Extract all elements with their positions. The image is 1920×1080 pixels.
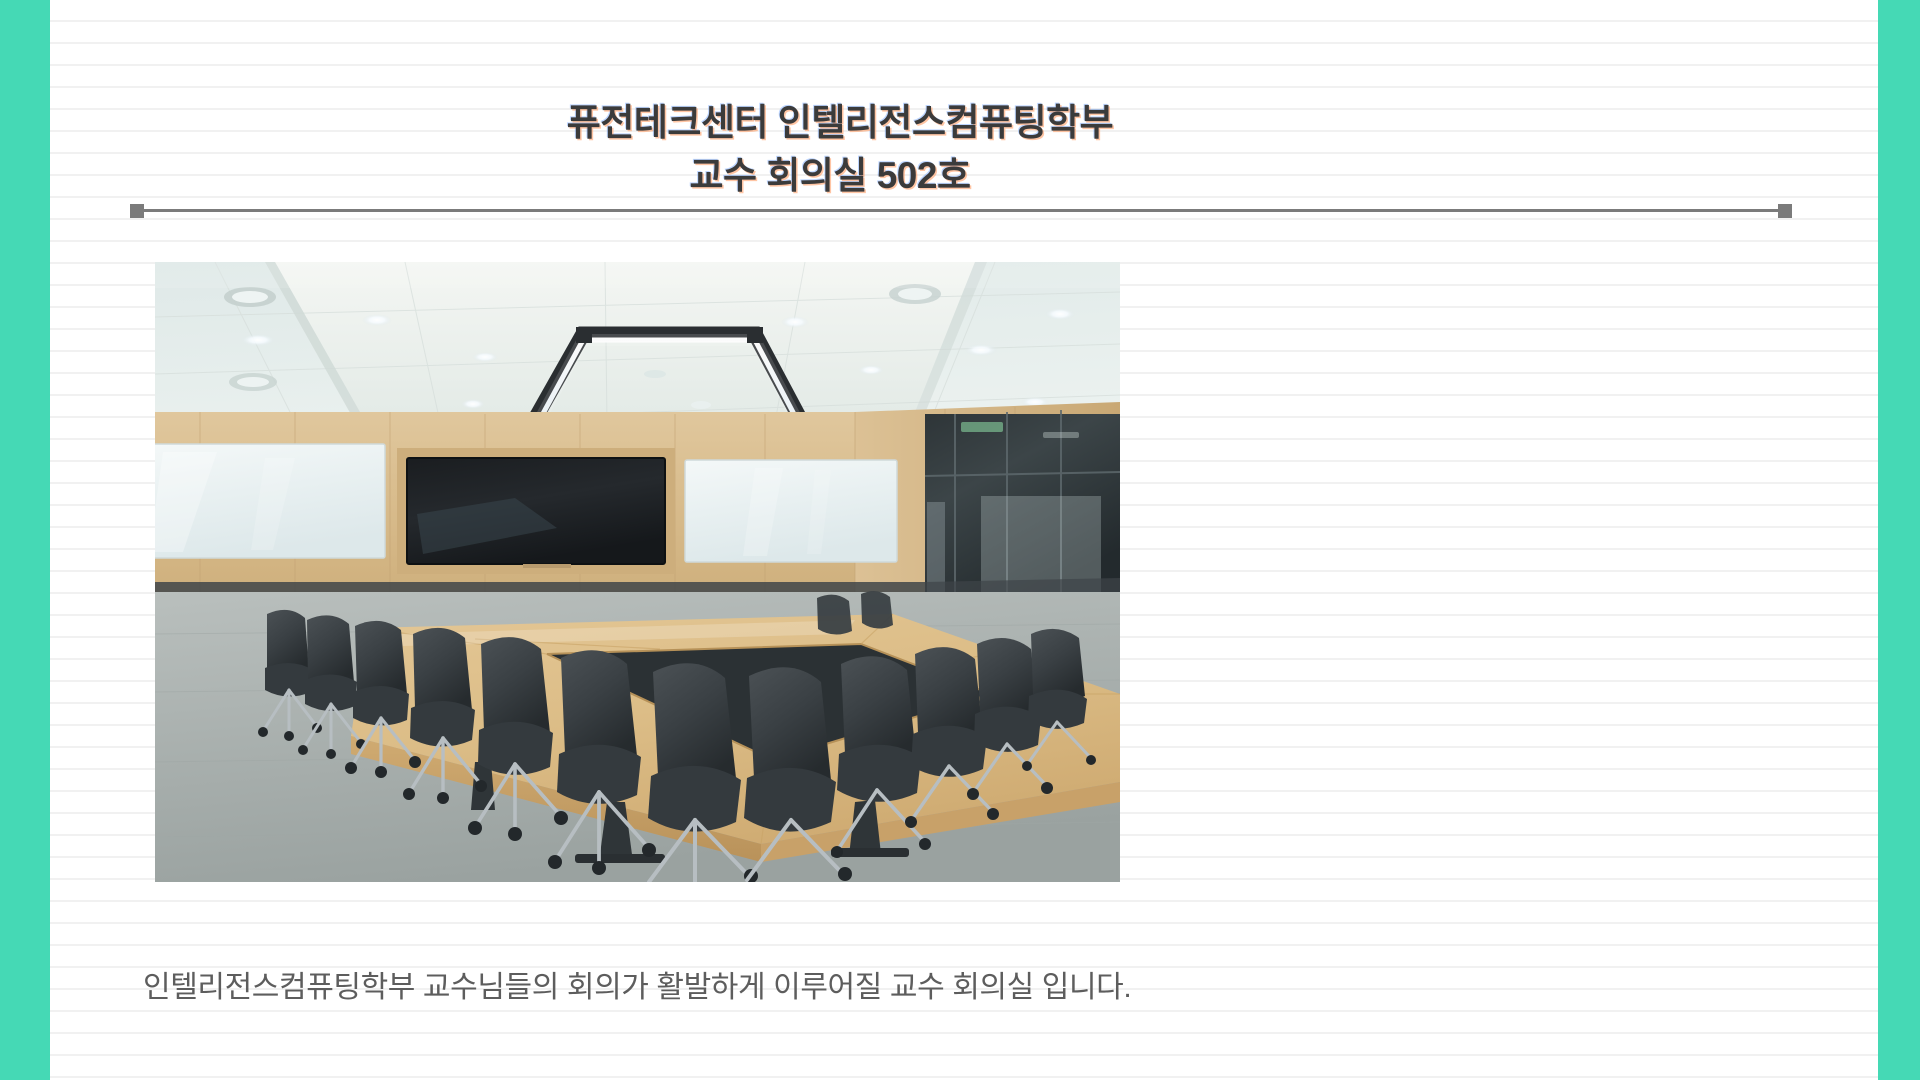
conference-room-photo [155, 262, 1120, 882]
slide-canvas: 퓨전테크센터 인텔리전스컴퓨팅학부 교수 회의실 502호 [0, 0, 1920, 1080]
accent-bar-right [1878, 0, 1920, 1080]
slide-caption: 인텔리전스컴퓨팅학부 교수님들의 회의가 활발하게 이루어질 교수 회의실 입니… [143, 966, 1131, 1010]
page-title: 퓨전테크센터 인텔리전스컴퓨팅학부 교수 회의실 502호 [0, 96, 1920, 202]
title-line-2: 교수 회의실 502호 [0, 149, 1920, 202]
divider-rule [130, 209, 1792, 212]
accent-bar-left [0, 0, 50, 1080]
title-divider [130, 204, 1792, 218]
conference-room-photo-image [155, 262, 1120, 882]
title-line-1: 퓨전테크센터 인텔리전스컴퓨팅학부 [0, 96, 1920, 149]
divider-cap-right [1778, 204, 1792, 218]
